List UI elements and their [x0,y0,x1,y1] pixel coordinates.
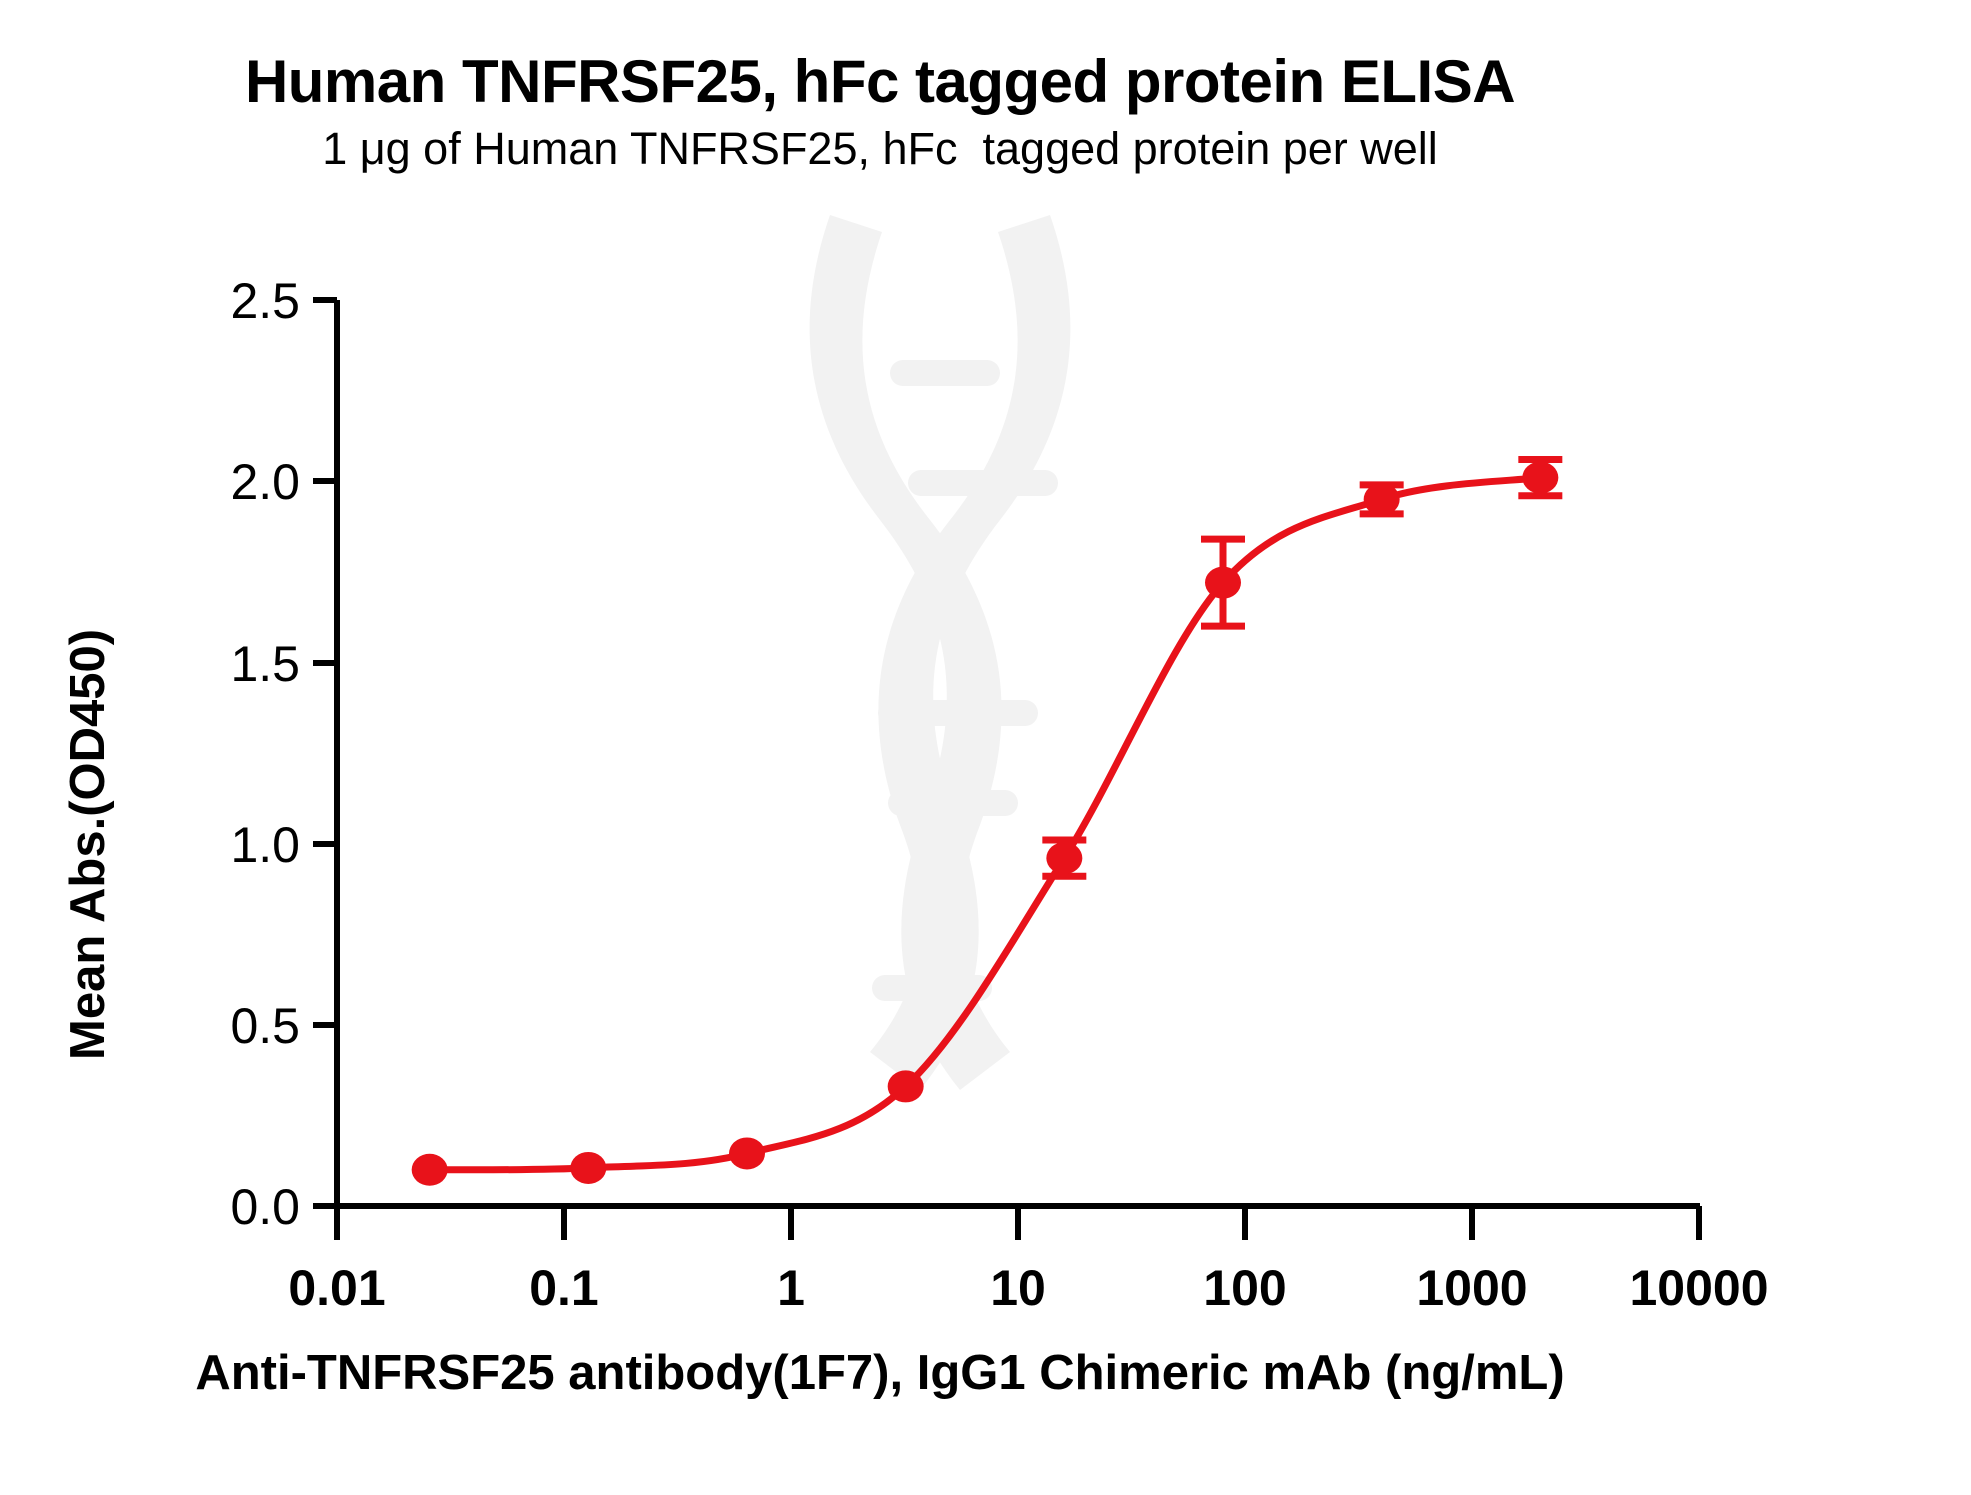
y-tick-label: 0.5 [230,998,300,1054]
y-axis-ticks [313,300,337,1206]
y-tick-label: 0.0 [230,1179,300,1235]
y-axis-tick-labels: 0.0 0.5 1.0 1.5 2.0 2.5 [230,273,300,1235]
y-tick-label: 1.5 [230,636,300,692]
data-point-marker [1522,462,1558,494]
y-tick-label: 1.0 [230,817,300,873]
x-tick-label: 10000 [1629,1260,1768,1316]
x-tick-label: 0.1 [529,1260,599,1316]
plot-area: 0.0 0.5 1.0 1.5 2.0 2.5 0.01 0.1 1 [0,0,1971,1495]
x-tick-label: 10 [990,1260,1046,1316]
data-point-marker [570,1152,606,1184]
data-point-marker [729,1137,765,1169]
chart-figure: Human TNFRSF25, hFc tagged protein ELISA… [0,0,1971,1495]
data-point-marker [1205,567,1241,599]
y-tick-label: 2.0 [230,454,300,510]
x-axis-ticks [337,1206,1699,1240]
y-tick-label: 2.5 [230,273,300,329]
x-tick-label: 1 [777,1260,805,1316]
data-point-marker [1364,483,1400,515]
data-series-layer [412,459,1563,1185]
dna-helix-watermark [810,215,1071,1090]
data-point-marker [1046,842,1082,874]
data-point-marker [888,1070,924,1102]
data-point-marker [412,1154,448,1186]
x-tick-label: 100 [1203,1260,1286,1316]
x-axis-tick-labels: 0.01 0.1 1 10 100 1000 10000 [288,1260,1768,1316]
chart-plot-svg: 0.0 0.5 1.0 1.5 2.0 2.5 0.01 0.1 1 [0,0,1971,1495]
x-tick-label: 1000 [1416,1260,1527,1316]
x-tick-label: 0.01 [288,1260,385,1316]
